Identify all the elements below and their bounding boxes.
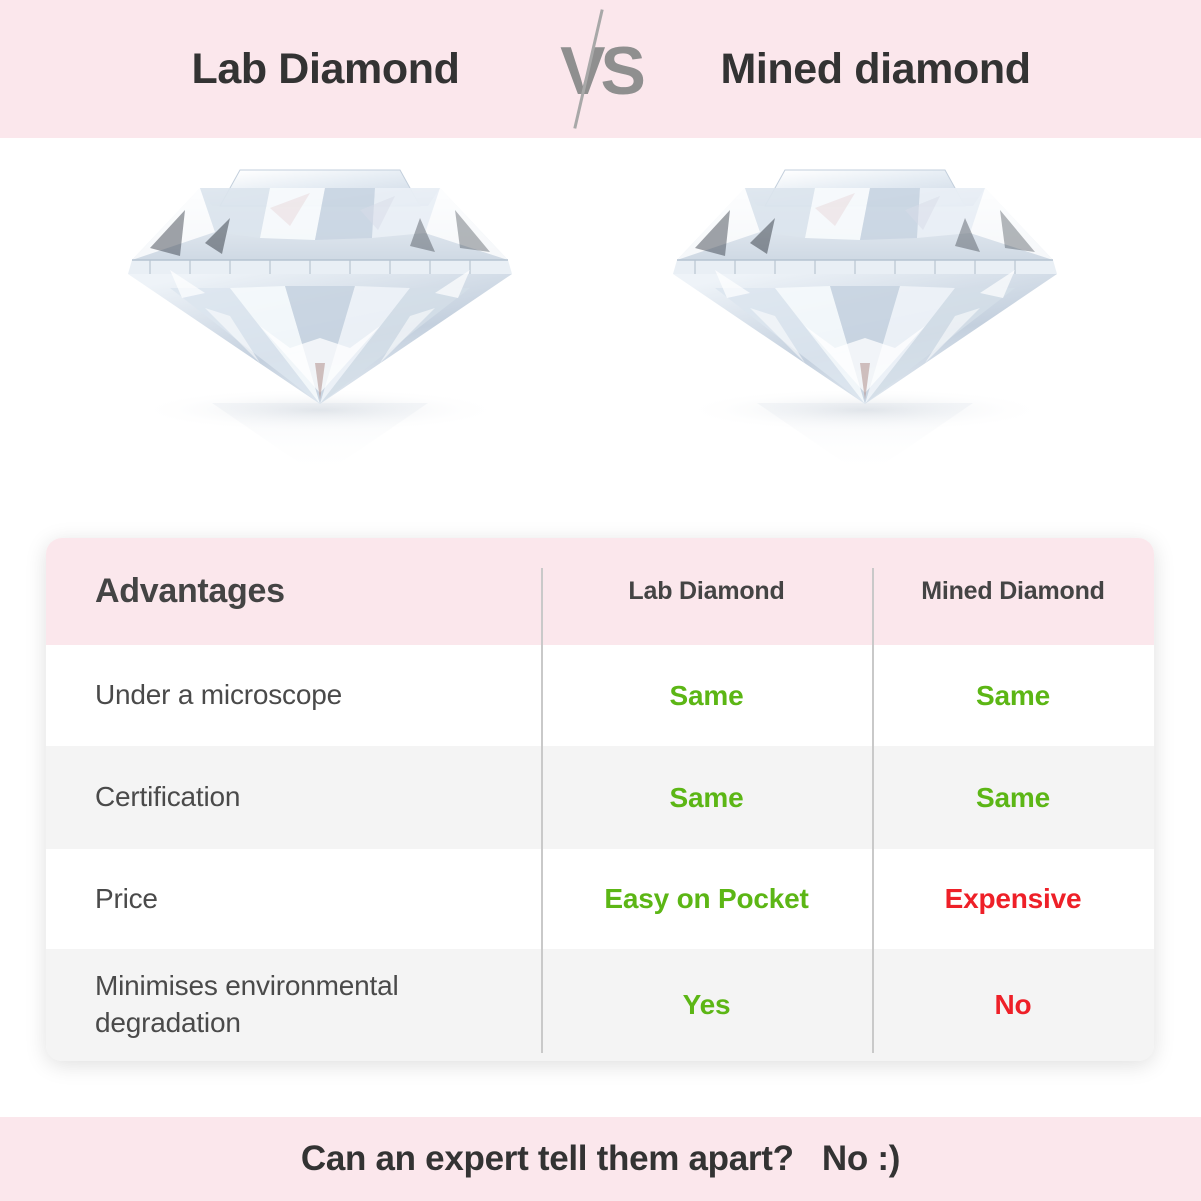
lab-value: Easy on Pocket: [604, 883, 808, 915]
diamond-images-section: [0, 138, 1201, 536]
mined-value: Same: [976, 782, 1050, 814]
mined-value-cell: Same: [872, 645, 1154, 746]
header-title-mined: Mined diamond: [661, 45, 1091, 94]
mined-value: Expensive: [945, 883, 1082, 915]
feature-cell: Under a microscope: [46, 645, 541, 746]
header-label-mined: Mined Diamond: [921, 577, 1105, 606]
lab-value: Yes: [683, 989, 731, 1021]
table-row: Under a microscope Same Same: [46, 645, 1154, 746]
feature-cell: Minimises environmental degradation: [46, 949, 541, 1061]
table-row: Certification Same Same: [46, 746, 1154, 849]
lab-value-cell: Same: [541, 746, 872, 849]
vs-label: VS: [560, 37, 641, 105]
comparison-table: Advantages Lab Diamond Mined Diamond Und…: [46, 538, 1154, 1061]
feature-cell: Price: [46, 849, 541, 949]
feature-label: Under a microscope: [95, 677, 342, 714]
column-divider-1: [541, 568, 543, 1053]
page-header-band: Lab Diamond VS Mined diamond: [0, 0, 1201, 138]
mined-value-cell: No: [872, 949, 1154, 1061]
header-cell-mined: Mined Diamond: [872, 538, 1154, 645]
table-row: Minimises environmental degradation Yes …: [46, 949, 1154, 1061]
page-footer-band: Can an expert tell them apart? No :): [0, 1117, 1201, 1201]
header-cell-advantages: Advantages: [46, 538, 541, 645]
mined-value: No: [995, 989, 1032, 1021]
header-label-advantages: Advantages: [95, 572, 285, 611]
mined-value: Same: [976, 680, 1050, 712]
lab-value: Same: [670, 680, 744, 712]
footer-question: Can an expert tell them apart? No :): [301, 1139, 900, 1179]
table-row: Price Easy on Pocket Expensive: [46, 849, 1154, 949]
column-divider-2: [872, 568, 874, 1053]
lab-value: Same: [670, 782, 744, 814]
lab-value-cell: Same: [541, 645, 872, 746]
mined-value-cell: Same: [872, 746, 1154, 849]
feature-cell: Certification: [46, 746, 541, 849]
header-label-lab: Lab Diamond: [628, 577, 784, 606]
lab-value-cell: Easy on Pocket: [541, 849, 872, 949]
lab-diamond-image: [110, 148, 530, 528]
vs-badge: VS: [541, 0, 661, 138]
header-title-lab: Lab Diamond: [111, 45, 541, 94]
table-header-row: Advantages Lab Diamond Mined Diamond: [46, 538, 1154, 645]
lab-value-cell: Yes: [541, 949, 872, 1061]
feature-label: Certification: [95, 779, 240, 816]
header-cell-lab: Lab Diamond: [541, 538, 872, 645]
feature-label: Minimises environmental degradation: [95, 968, 541, 1042]
feature-label: Price: [95, 881, 158, 918]
mined-value-cell: Expensive: [872, 849, 1154, 949]
mined-diamond-image: [655, 148, 1075, 528]
